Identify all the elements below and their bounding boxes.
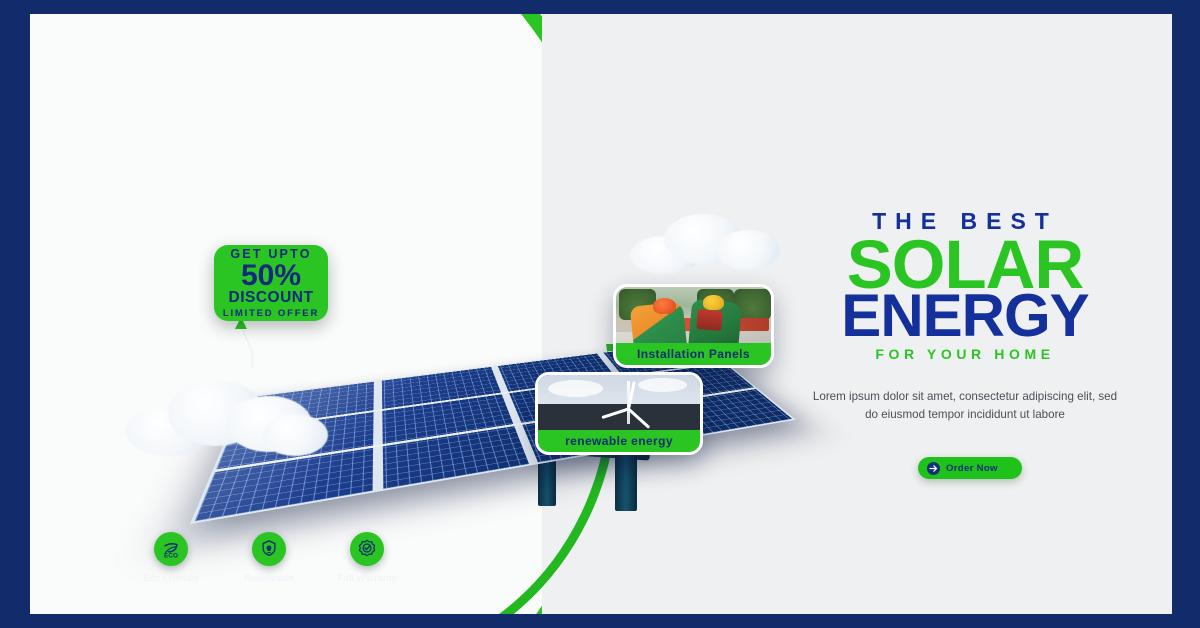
feature-full-warranty[interactable]: Full Warranty — [332, 532, 402, 584]
order-now-button[interactable]: Order Now — [918, 457, 1022, 479]
photo-card-renewable[interactable]: renewable energy — [535, 372, 703, 455]
description-text: Lorem ipsum dolor sit amet, consectetur … — [805, 388, 1125, 424]
headline-energy: ENERGY — [790, 290, 1140, 342]
headline-block: THE BEST SOLAR ENERGY FOR YOUR HOME — [790, 210, 1140, 361]
renewable-bulb-icon — [252, 532, 286, 566]
badge-pointer-arrow — [226, 314, 266, 370]
headline-subtitle: FOR YOUR HOME — [790, 347, 1140, 361]
badge-percent: 50% — [241, 261, 301, 291]
photo-card-caption: Installation Panels — [616, 343, 771, 365]
eco-leaf-icon: ECO — [154, 532, 188, 566]
photo-card-caption: renewable energy — [538, 430, 700, 452]
badge-discount-label: DISCOUNT — [229, 290, 314, 306]
svg-text:ECO: ECO — [164, 552, 178, 559]
feature-renewable[interactable]: Renewable — [234, 532, 304, 584]
feature-label: Eco Friendly — [136, 573, 206, 584]
arrow-right-icon — [927, 462, 940, 475]
discount-badge: GET UPTO 50% DISCOUNT LIMITED OFFER — [214, 245, 328, 321]
feature-label: Full Warranty — [332, 573, 402, 584]
banner-canvas: GET UPTO 50% DISCOUNT LIMITED OFFER Inst… — [0, 0, 1200, 628]
warranty-check-icon — [350, 532, 384, 566]
feature-eco-friendly[interactable]: ECO Eco Friendly — [136, 532, 206, 584]
photo-card-installation[interactable]: Installation Panels — [613, 284, 774, 368]
feature-list: ECO Eco Friendly Renewable — [136, 532, 402, 584]
badge-limited-offer: LIMITED OFFER — [223, 309, 319, 319]
feature-label: Renewable — [234, 573, 304, 584]
order-now-label: Order Now — [946, 463, 998, 474]
banner-stage: GET UPTO 50% DISCOUNT LIMITED OFFER Inst… — [30, 14, 1172, 614]
